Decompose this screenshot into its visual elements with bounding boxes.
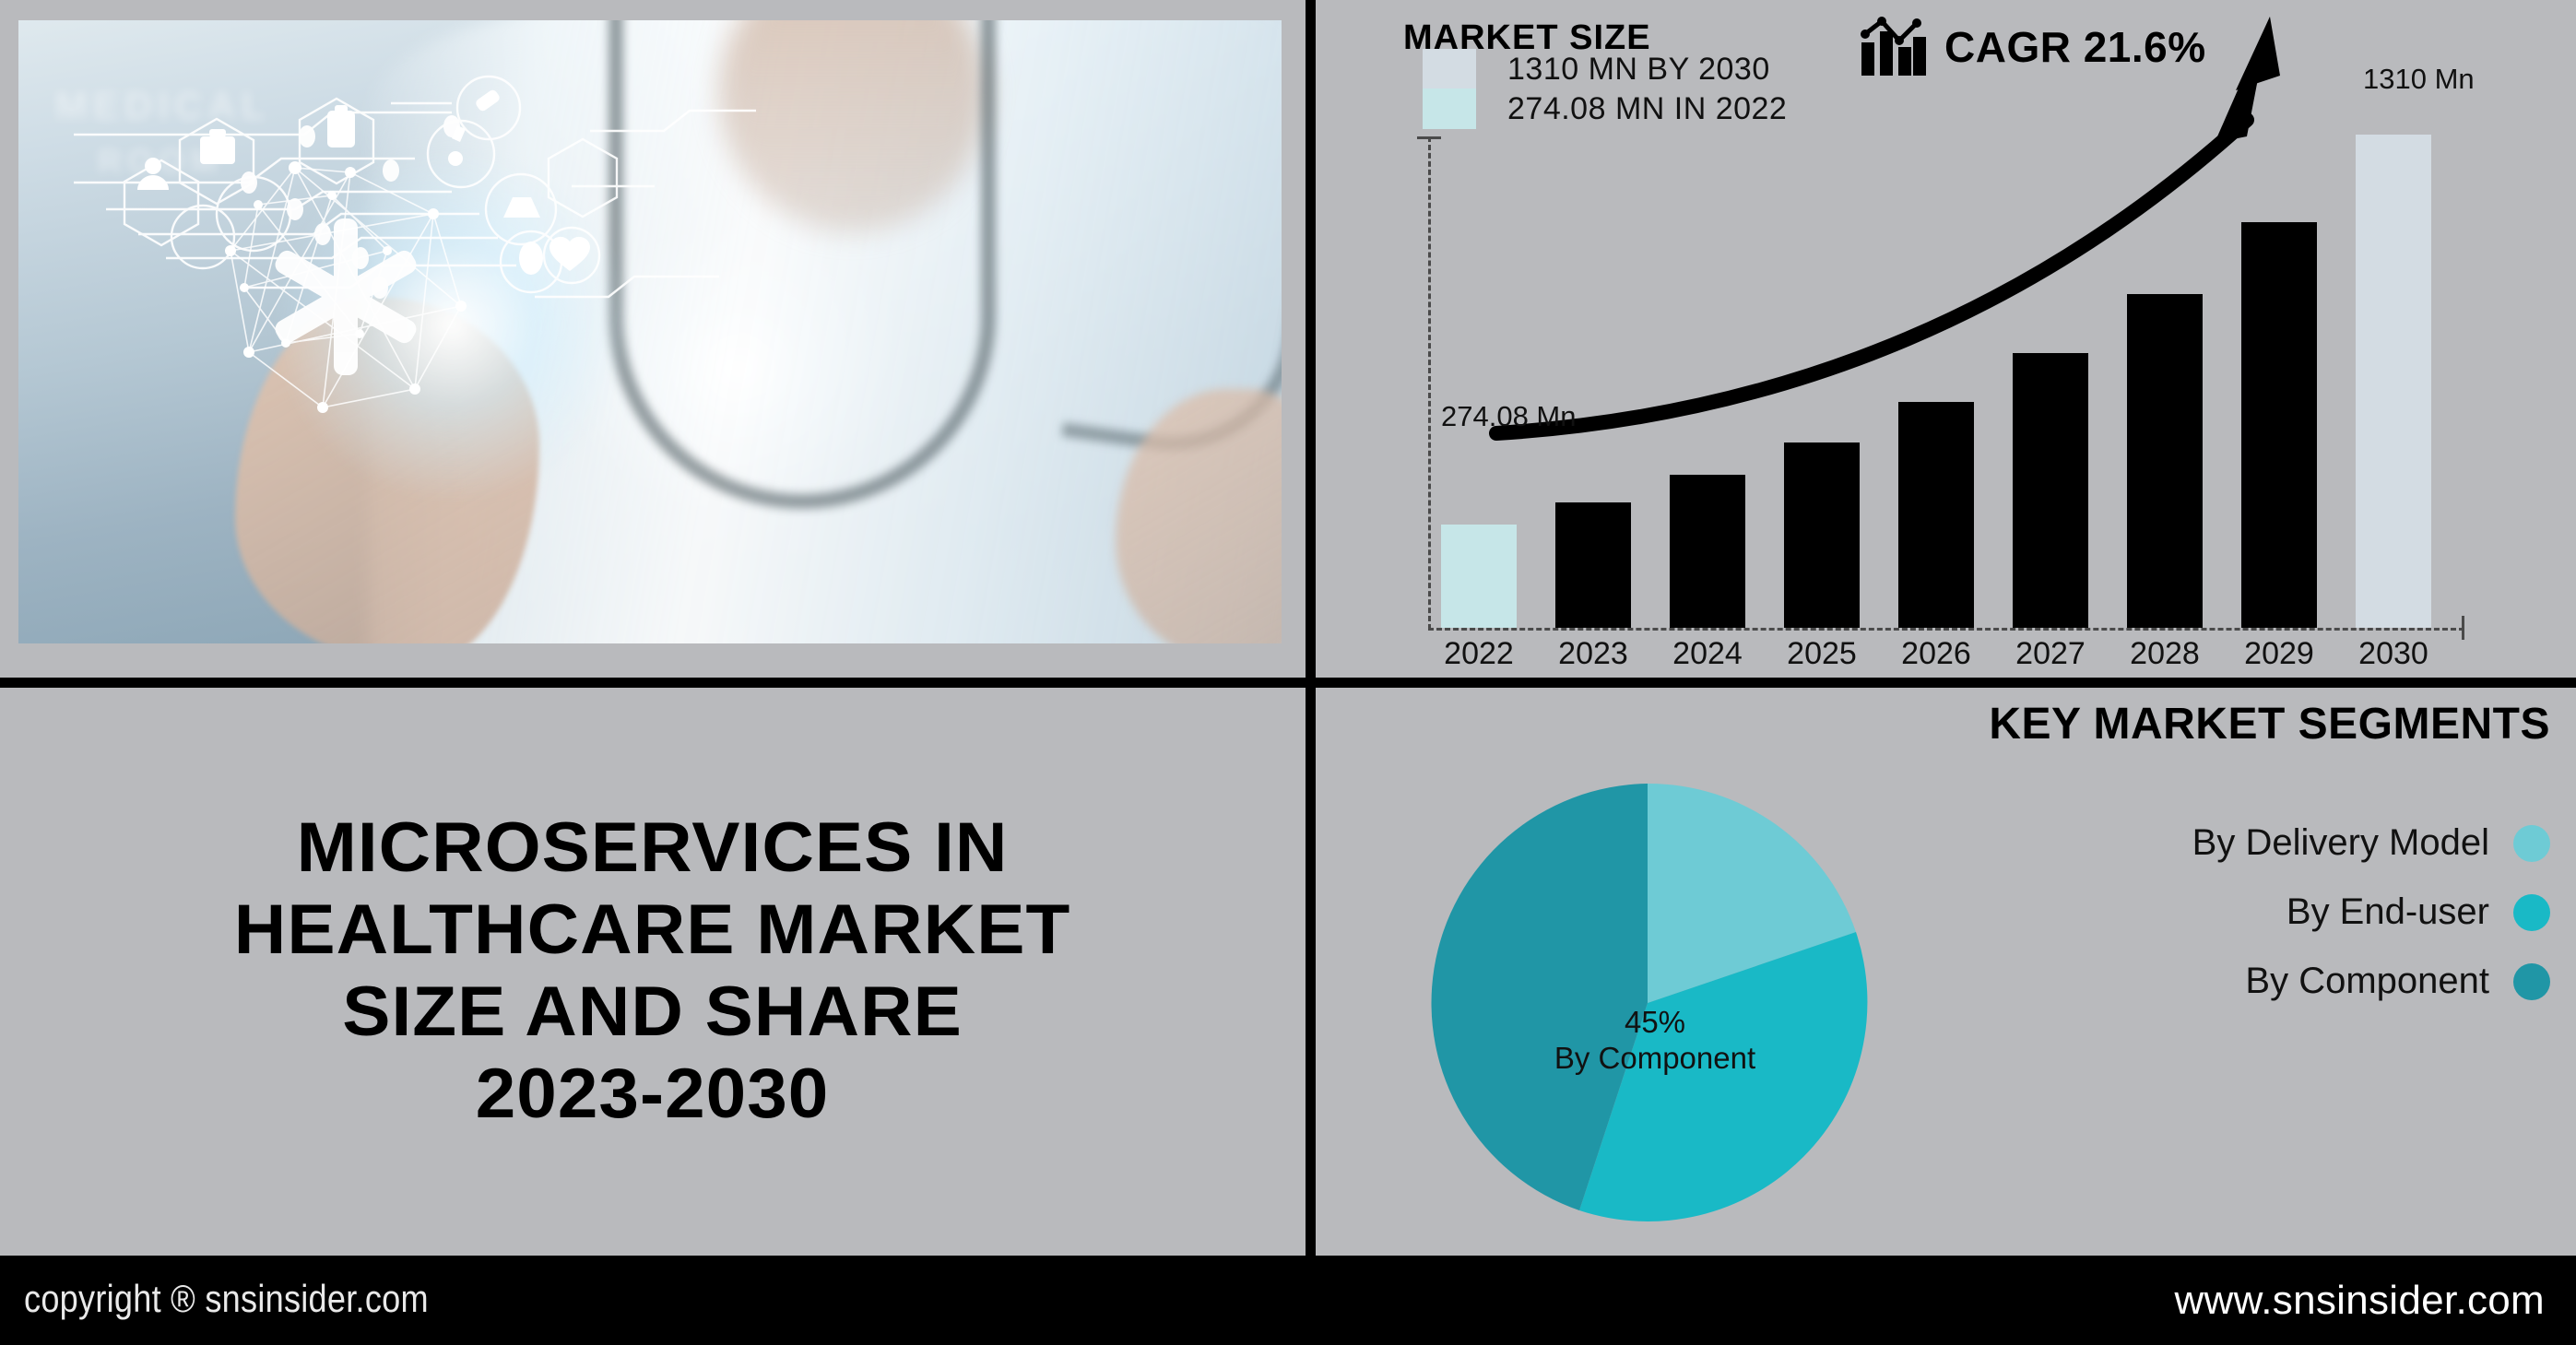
x-label-2024: 2024: [1670, 636, 1745, 672]
title-line-1: MICROSERVICES IN: [234, 808, 1071, 890]
segment-label-end-user: By End-user: [2286, 891, 2489, 933]
pie-slice-name: By Component: [1544, 1041, 1766, 1077]
y-axis: [1428, 136, 1431, 630]
x-label-2023: 2023: [1555, 636, 1631, 672]
x-label-2030: 2030: [2356, 636, 2431, 672]
pie-slice-label-component: 45% By Component: [1544, 1005, 1766, 1077]
x-label-2028: 2028: [2127, 636, 2203, 672]
x-axis-end-tick: [2462, 616, 2464, 640]
page-title: MICROSERVICES IN HEALTHCARE MARKET SIZE …: [234, 808, 1071, 1136]
bar-2029: [2241, 222, 2317, 628]
pie-svg: [1417, 773, 1878, 1233]
bar-chart: 274.08 Mn 1310 Mn 2022 2023 2024 2025 20…: [1316, 0, 2576, 678]
bar-2025: [1784, 442, 1860, 628]
segment-item-component[interactable]: By Component: [2192, 961, 2550, 1002]
bar-value-2030: 1310 Mn: [2363, 63, 2475, 96]
title-line-3: SIZE AND SHARE: [234, 972, 1071, 1054]
title-line-4: 2023-2030: [234, 1054, 1071, 1136]
segment-dot-delivery-model: [2513, 825, 2550, 862]
segment-label-component: By Component: [2245, 961, 2489, 1002]
segment-item-delivery-model[interactable]: By Delivery Model: [2192, 822, 2550, 864]
key-market-segments-panel: KEY MARKET SEGMENTS 45% By Component By …: [1316, 688, 2576, 1256]
title-line-2: HEALTHCARE MARKET: [234, 890, 1071, 972]
x-label-2026: 2026: [1898, 636, 1974, 672]
website-url[interactable]: www.snsinsider.com: [2174, 1278, 2545, 1324]
bar-2028: [2127, 294, 2203, 628]
x-axis: [1428, 628, 2464, 631]
pie-slice-percent: 45%: [1544, 1005, 1766, 1041]
infographic-page: MEDICAL ROOM: [0, 0, 2576, 1345]
bar-2027: [2013, 353, 2088, 628]
segments-pie-chart: 45% By Component: [1417, 773, 1878, 1233]
segment-dot-component: [2513, 963, 2550, 1000]
healthcare-photo: MEDICAL ROOM: [18, 20, 1282, 643]
segment-dot-end-user: [2513, 894, 2550, 931]
bar-2022: [1441, 525, 1517, 628]
segment-label-delivery-model: By Delivery Model: [2192, 822, 2489, 864]
x-label-2022: 2022: [1441, 636, 1517, 672]
x-label-2027: 2027: [2013, 636, 2088, 672]
medical-network-overlay: [18, 20, 1282, 643]
bar-2026: [1898, 402, 1974, 628]
copyright-text: copyright ® snsinsider.com: [24, 1277, 429, 1321]
horizontal-divider: [0, 678, 2576, 688]
segments-heading: KEY MARKET SEGMENTS: [1989, 699, 2550, 749]
market-size-panel: MARKET SIZE 1310 MN BY 2030 274.08 MN IN…: [1316, 0, 2576, 678]
bar-2030: [2356, 135, 2431, 628]
segment-item-end-user[interactable]: By End-user: [2192, 891, 2550, 933]
x-label-2029: 2029: [2241, 636, 2317, 672]
title-panel: MICROSERVICES IN HEALTHCARE MARKET SIZE …: [0, 688, 1306, 1256]
bar-2023: [1555, 502, 1631, 628]
hero-photo-panel: MEDICAL ROOM: [0, 0, 1306, 678]
vertical-divider: [1306, 0, 1316, 1289]
x-label-2025: 2025: [1784, 636, 1860, 672]
segments-legend: By Delivery Model By End-user By Compone…: [2192, 822, 2550, 1030]
bar-value-2022: 274.08 Mn: [1441, 400, 1577, 433]
bar-2024: [1670, 475, 1745, 628]
